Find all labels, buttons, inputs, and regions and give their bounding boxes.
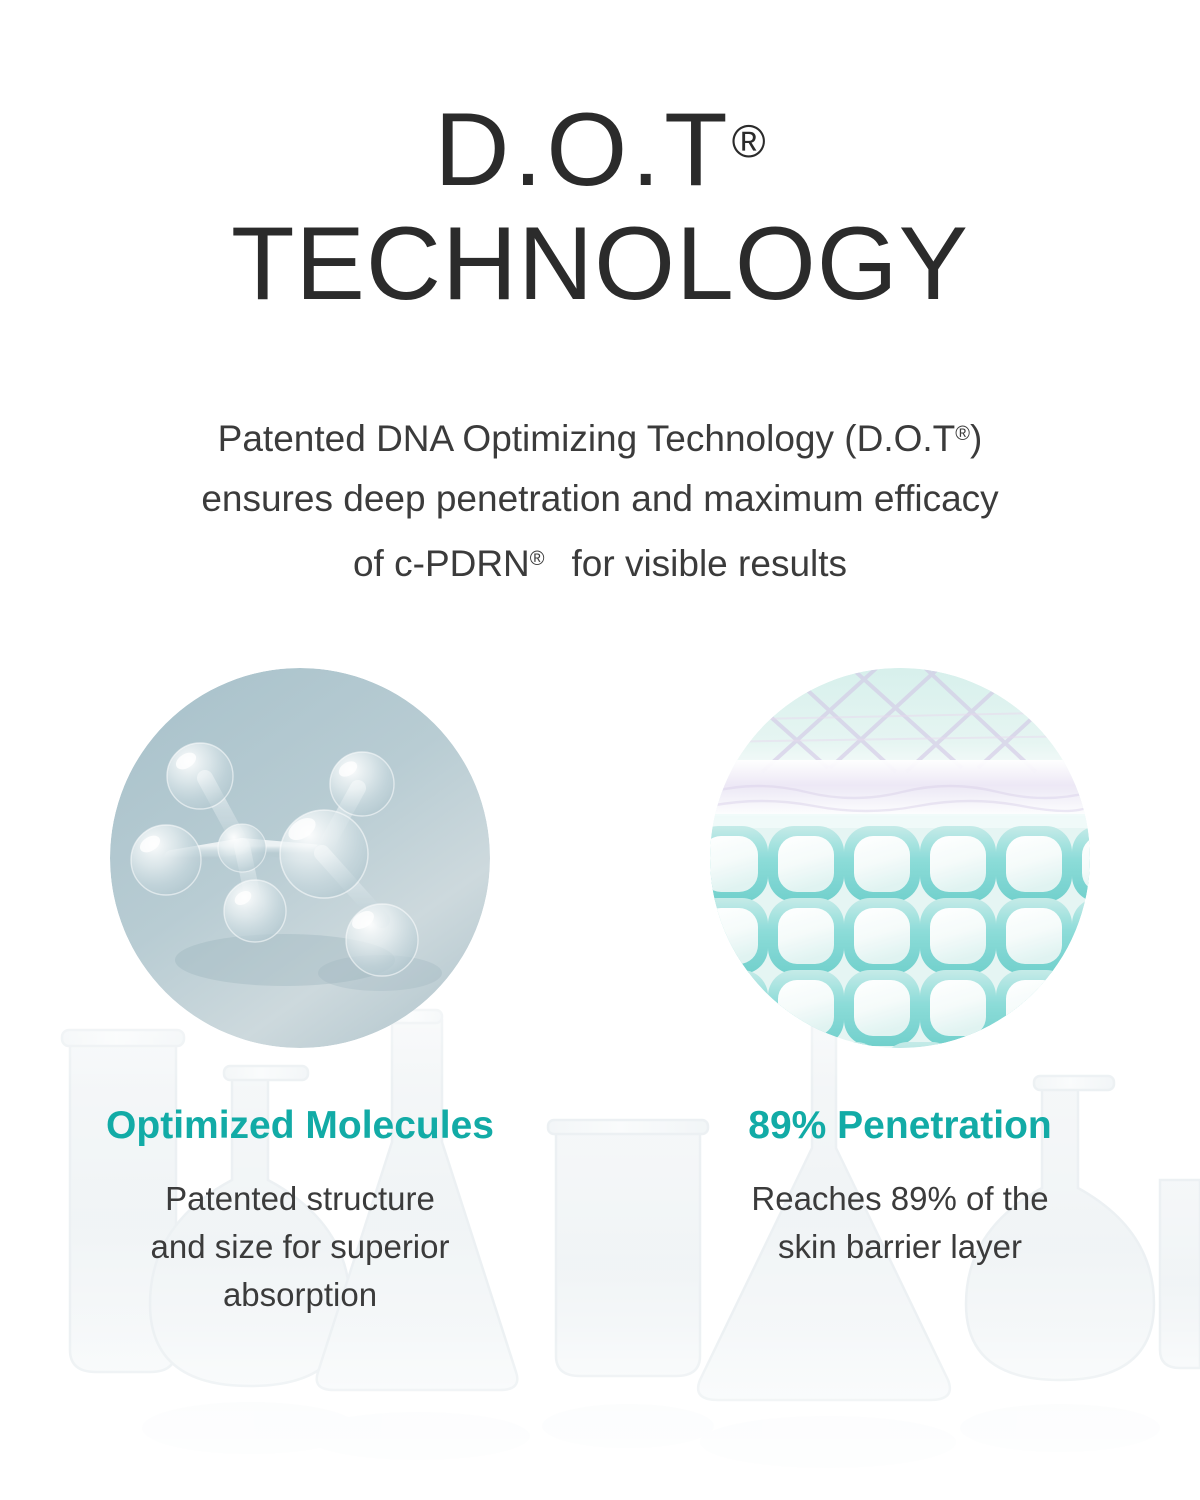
subtitle: Patented DNA Optimizing Technology (D.O.…: [0, 404, 1200, 594]
feature-body-optimized-molecules: Patented structure and size for superior…: [151, 1175, 450, 1319]
feature-body-line: absorption: [151, 1271, 450, 1319]
skin-barrier-penetration-image: [710, 668, 1090, 1048]
registered-mark-icon: ®: [732, 115, 766, 167]
feature-body-line: Reaches 89% of the: [751, 1175, 1048, 1223]
subtitle-line-3-text: of c-PDRN: [353, 543, 530, 584]
optimized-molecules-image: [110, 668, 490, 1048]
registered-mark-icon: ®: [530, 548, 545, 570]
feature-body-penetration: Reaches 89% of the skin barrier layer: [751, 1175, 1048, 1271]
subtitle-spacer: [545, 543, 572, 584]
feature-body-line: Patented structure: [151, 1175, 450, 1223]
title-line-one: D.O.T®: [0, 96, 1200, 204]
feature-body-line: skin barrier layer: [751, 1223, 1048, 1271]
feature-body-line: and size for superior: [151, 1223, 450, 1271]
registered-mark-icon: ®: [955, 423, 970, 445]
subtitle-line-3: of c-PDRN® for visible results: [0, 529, 1200, 594]
subtitle-line-2: ensures deep penetration and maximum eff…: [0, 469, 1200, 529]
subtitle-line-1: Patented DNA Optimizing Technology (D.O.…: [0, 404, 1200, 469]
feature-title-optimized-molecules: Optimized Molecules: [106, 1104, 494, 1149]
subtitle-line-1-text: Patented DNA Optimizing Technology (D.O.…: [218, 418, 956, 459]
title-dot-text: D.O.T: [434, 92, 731, 208]
feature-columns: Optimized Molecules Patented structure a…: [0, 668, 1200, 1319]
subtitle-line-3-tail: for visible results: [571, 543, 847, 584]
title-line-two: TECHNOLOGY: [0, 210, 1200, 318]
feature-title-penetration: 89% Penetration: [748, 1104, 1051, 1149]
feature-penetration: 89% Penetration Reaches 89% of the skin …: [600, 668, 1200, 1319]
page-title: D.O.T® TECHNOLOGY: [0, 96, 1200, 318]
feature-optimized-molecules: Optimized Molecules Patented structure a…: [0, 668, 600, 1319]
dot-technology-infographic: D.O.T® TECHNOLOGY Patented DNA Optimizin…: [0, 0, 1200, 1500]
subtitle-line-1-close: ): [970, 418, 982, 459]
